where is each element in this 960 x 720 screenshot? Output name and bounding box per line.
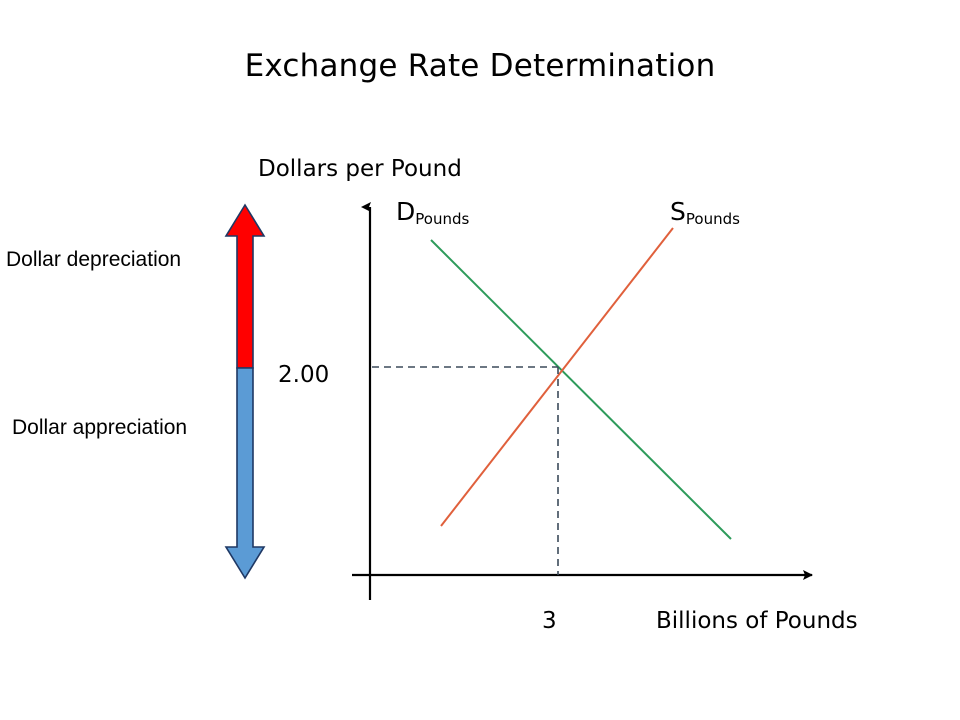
equilibrium-price-label: 2.00 <box>278 362 329 388</box>
supply-curve-label-main: S <box>670 197 686 226</box>
equilibrium-quantity-label: 3 <box>542 608 557 634</box>
demand-curve-label: DPounds <box>396 197 469 226</box>
exchange-rate-direction-arrow <box>226 205 264 578</box>
dollar-depreciation-label: Dollar depreciation <box>6 248 181 272</box>
dollar-appreciation-arrow-down <box>226 368 264 578</box>
x-axis-label: Billions of Pounds <box>656 608 858 634</box>
demand-curve-label-subscript: Pounds <box>415 210 469 228</box>
demand-curve-label-main: D <box>396 197 415 226</box>
supply-curve <box>441 228 673 526</box>
demand-curve <box>431 240 731 539</box>
y-axis-label: Dollars per Pound <box>258 156 462 182</box>
dollar-appreciation-label: Dollar appreciation <box>12 416 187 440</box>
supply-curve-label-subscript: Pounds <box>686 210 740 228</box>
slide-canvas: Exchange Rate Determination <box>0 0 960 720</box>
dollar-depreciation-arrow-up <box>226 205 264 368</box>
supply-curve-label: SPounds <box>670 197 740 226</box>
